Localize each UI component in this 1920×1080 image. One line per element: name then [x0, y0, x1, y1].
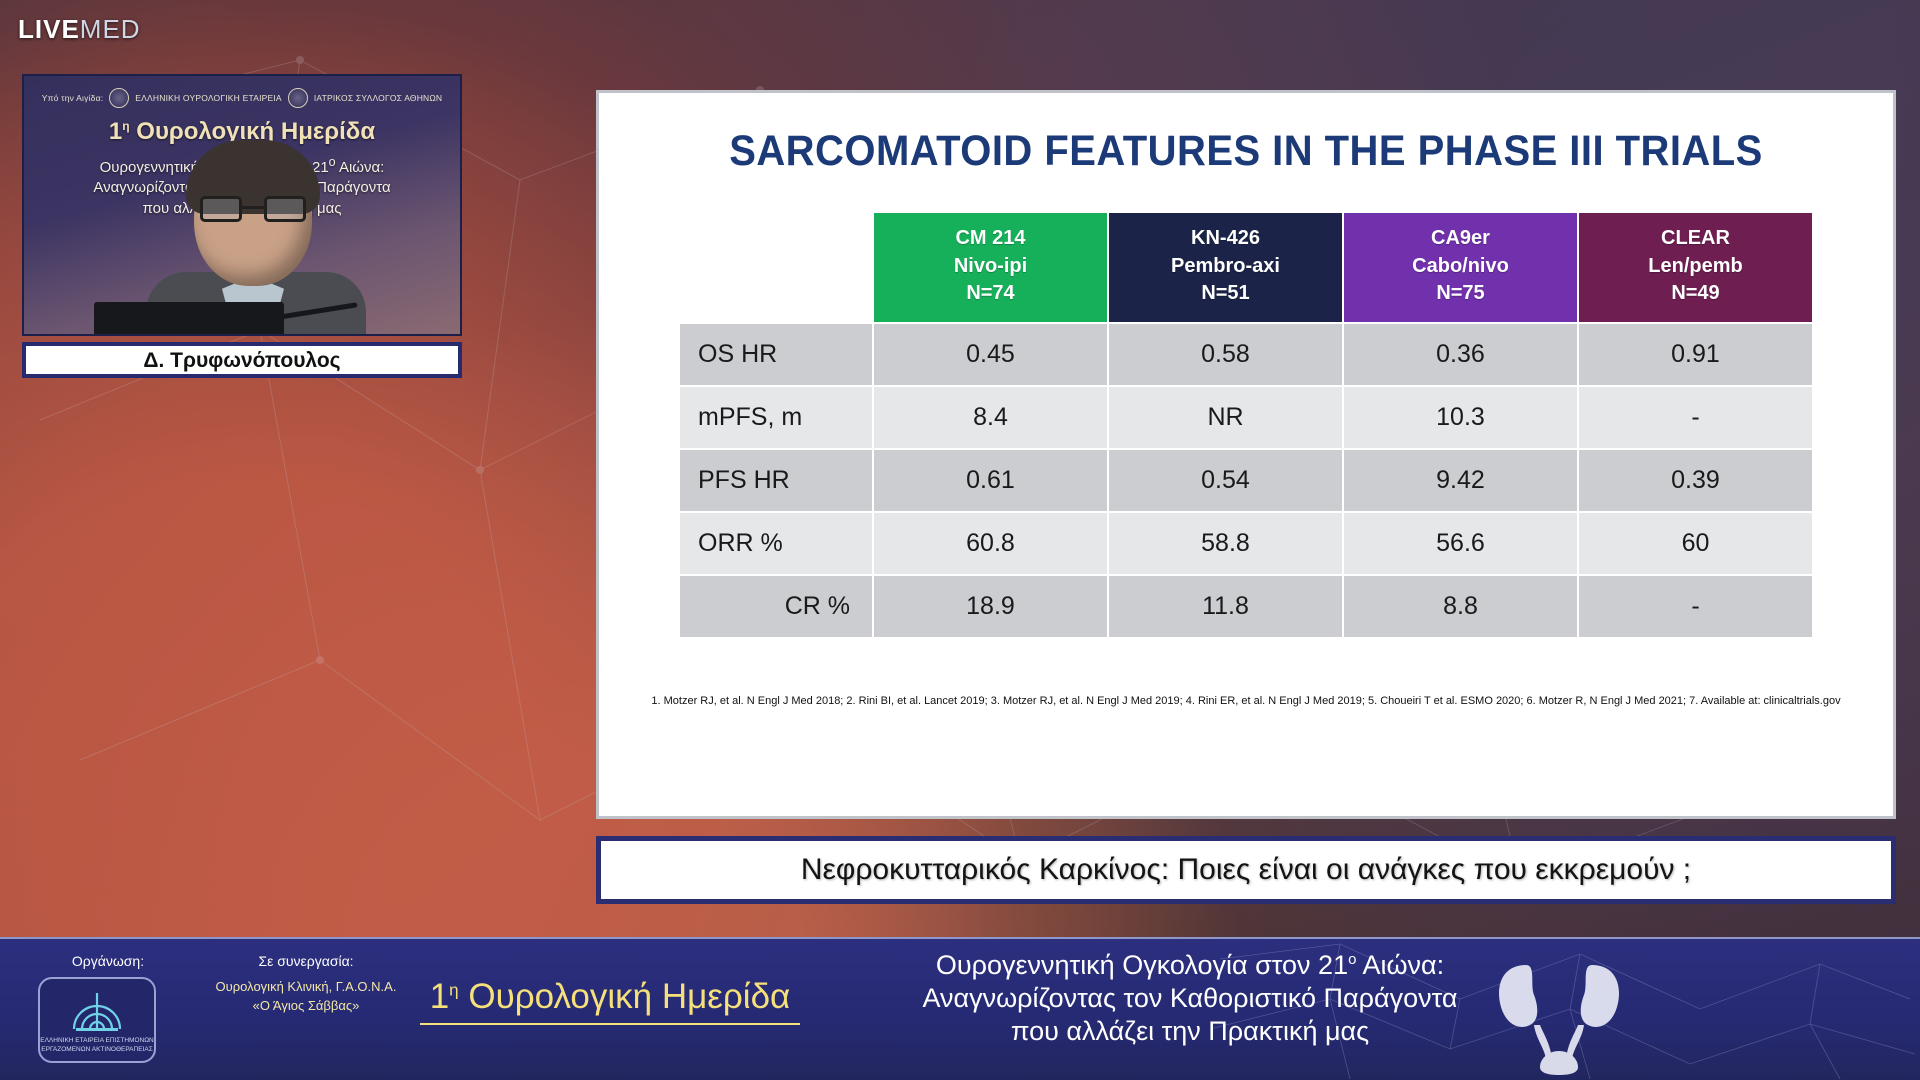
radiotherapy-arcs-icon — [66, 989, 128, 1031]
banner-organizer-block: Οργάνωση: ΕΛΛΗΝΙΚΗ ΕΤΑΙΡΕΙΑ ΕΠΙΣΤΗΜΟΝΩΝ … — [38, 953, 178, 1063]
banner-event-number-sup: η — [449, 980, 458, 999]
column-header-ca9er: CA9er Cabo/nivo N=75 — [1343, 212, 1578, 323]
society-seal-icon — [109, 88, 129, 108]
cell-cr-kn426: 11.8 — [1108, 575, 1343, 638]
thumbnail-aegis-row: Υπό την Αιγίδα: ΕΛΛΗΝΙΚΗ ΟΥΡΟΛΟΓΙΚΗ ΕΤΑΙ… — [24, 84, 460, 108]
cell-os-hr-kn426: 0.58 — [1108, 323, 1343, 386]
header-trial-name: KN-426 — [1113, 225, 1338, 253]
header-regimen: Cabo/nivo — [1348, 253, 1573, 281]
banner-main-line1-end: Αιώνα: — [1356, 950, 1444, 980]
cell-os-hr-cm214: 0.45 — [873, 323, 1108, 386]
table-corner-cell — [679, 212, 873, 323]
organizer-caption: Οργάνωση: — [38, 953, 178, 969]
thumbnail-event-number-sup: η — [122, 119, 129, 133]
cell-orr-cm214: 60.8 — [873, 512, 1108, 575]
row-label-mpfs: mPFS, m — [679, 386, 873, 449]
aegis-label: Υπό την Αιγίδα: — [42, 93, 104, 103]
banner-main-line1: Ουρογεννητική Ογκολογία στον 21ο Αιώνα: — [810, 949, 1570, 982]
cell-os-hr-ca9er: 0.36 — [1343, 323, 1578, 386]
society-right-label: ΙΑΤΡΙΚΟΣ ΣΥΛΛΟΓΟΣ ΑΘΗΝΩΝ — [314, 93, 442, 103]
table-row: OS HR 0.45 0.58 0.36 0.91 — [679, 323, 1813, 386]
table-header-row: CM 214 Nivo-ipi N=74 KN-426 Pembro-axi N… — [679, 212, 1813, 323]
cell-pfs-hr-ca9er: 9.42 — [1343, 449, 1578, 512]
header-n: N=51 — [1113, 280, 1338, 308]
cell-mpfs-ca9er: 10.3 — [1343, 386, 1578, 449]
column-header-kn426: KN-426 Pembro-axi N=51 — [1108, 212, 1343, 323]
cell-cr-cm214: 18.9 — [873, 575, 1108, 638]
header-trial-name: CLEAR — [1583, 225, 1808, 253]
cell-os-hr-clear: 0.91 — [1578, 323, 1813, 386]
table-row: CR % 18.9 11.8 8.8 - — [679, 575, 1813, 638]
header-n: N=74 — [878, 280, 1103, 308]
speaker-glasses — [200, 196, 306, 222]
speaker-name-label: Δ. Τρυφωνόπουλος — [22, 342, 462, 378]
table-row: mPFS, m 8.4 NR 10.3 - — [679, 386, 1813, 449]
header-trial-name: CA9er — [1348, 225, 1573, 253]
banner-main-title-block: Ουρογεννητική Ογκολογία στον 21ο Αιώνα: … — [810, 949, 1570, 1049]
banner-event-title-block: 1η Ουρολογική Ημερίδα — [420, 977, 800, 1025]
banner-event-number: 1 — [430, 977, 449, 1016]
session-title-bar: Νεφροκυτταρικός Καρκίνος: Ποιες είναι οι… — [596, 836, 1896, 904]
cooperation-line1: Ουρολογική Κλινική, Γ.Α.Ο.Ν.Α. — [196, 979, 416, 994]
session-title-text: Νεφροκυτταρικός Καρκίνος: Ποιες είναι οι… — [801, 853, 1691, 887]
header-regimen: Len/pemb — [1583, 253, 1808, 281]
row-label-pfs-hr: PFS HR — [679, 449, 873, 512]
slide-references-footnote: 1. Motzer RJ, et al. N Engl J Med 2018; … — [599, 693, 1893, 710]
slide-title: SARCOMATOID FEATURES IN THE PHASE III TR… — [644, 127, 1847, 176]
banner-cooperation-block: Σε συνεργασία: Ουρολογική Κλινική, Γ.Α.Ο… — [196, 953, 416, 1013]
cell-orr-ca9er: 56.6 — [1343, 512, 1578, 575]
cell-mpfs-clear: - — [1578, 386, 1813, 449]
cell-pfs-hr-cm214: 0.61 — [873, 449, 1108, 512]
presentation-slide: SARCOMATOID FEATURES IN THE PHASE III TR… — [596, 90, 1896, 819]
table-row: ORR % 60.8 58.8 56.6 60 — [679, 512, 1813, 575]
speaker-video-feed[interactable]: Υπό την Αιγίδα: ΕΛΛΗΝΙΚΗ ΟΥΡΟΛΟΓΙΚΗ ΕΤΑΙ… — [22, 74, 462, 336]
banner-main-line3: που αλλάζει την Πρακτική μας — [810, 1015, 1570, 1048]
row-label-cr: CR % — [679, 575, 873, 638]
organizer-logo: ΕΛΛΗΝΙΚΗ ΕΤΑΙΡΕΙΑ ΕΠΙΣΤΗΜΟΝΩΝ ΕΡΓΑΖΟΜΕΝΩ… — [38, 977, 156, 1063]
banner-main-line2: Αναγνωρίζοντας τον Καθοριστικό Παράγοντα — [810, 982, 1570, 1015]
livemed-logo: LIVEMED — [18, 14, 141, 45]
header-n: N=75 — [1348, 280, 1573, 308]
banner-title-underline — [420, 1023, 800, 1025]
cell-mpfs-kn426: NR — [1108, 386, 1343, 449]
logo-live-text: LIVE — [18, 14, 80, 44]
organizer-logo-text: ΕΛΛΗΝΙΚΗ ΕΤΑΙΡΕΙΑ ΕΠΙΣΤΗΜΟΝΩΝ ΕΡΓΑΖΟΜΕΝΩ… — [40, 1037, 154, 1055]
cooperation-line2: «Ο Άγιος Σάββας» — [196, 998, 416, 1013]
event-sponsor-banner: Οργάνωση: ΕΛΛΗΝΙΚΗ ΕΤΑΙΡΕΙΑ ΕΠΙΣΤΗΜΟΝΩΝ … — [0, 937, 1920, 1080]
cell-orr-clear: 60 — [1578, 512, 1813, 575]
header-regimen: Pembro-axi — [1113, 253, 1338, 281]
cooperation-caption: Σε συνεργασία: — [196, 953, 416, 969]
banner-main-line1-text: Ουρογεννητική Ογκολογία στον 21 — [936, 950, 1348, 980]
logo-med-text: MED — [80, 14, 141, 44]
table-row: PFS HR 0.61 0.54 9.42 0.39 — [679, 449, 1813, 512]
society-seal-icon-2 — [288, 88, 308, 108]
cell-pfs-hr-kn426: 0.54 — [1108, 449, 1343, 512]
header-trial-name: CM 214 — [878, 225, 1103, 253]
sarcomatoid-trials-table: CM 214 Nivo-ipi N=74 KN-426 Pembro-axi N… — [679, 212, 1813, 638]
kidney-anatomy-icon — [1474, 947, 1644, 1075]
banner-event-name: Ουρολογική Ημερίδα — [468, 977, 790, 1016]
speaker-video-card[interactable]: Υπό την Αιγίδα: ΕΛΛΗΝΙΚΗ ΟΥΡΟΛΟΓΙΚΗ ΕΤΑΙ… — [22, 74, 462, 378]
cell-mpfs-cm214: 8.4 — [873, 386, 1108, 449]
row-label-os-hr: OS HR — [679, 323, 873, 386]
row-label-orr: ORR % — [679, 512, 873, 575]
header-n: N=49 — [1583, 280, 1808, 308]
column-header-cm214: CM 214 Nivo-ipi N=74 — [873, 212, 1108, 323]
column-header-clear: CLEAR Len/pemb N=49 — [1578, 212, 1813, 323]
cell-cr-clear: - — [1578, 575, 1813, 638]
banner-event-title: 1η Ουρολογική Ημερίδα — [420, 977, 800, 1017]
society-left-label: ΕΛΛΗΝΙΚΗ ΟΥΡΟΛΟΓΙΚΗ ΕΤΑΙΡΕΙΑ — [135, 93, 282, 103]
laptop-icon — [94, 302, 284, 336]
cell-orr-kn426: 58.8 — [1108, 512, 1343, 575]
thumbnail-event-number: 1 — [109, 118, 122, 145]
cell-cr-ca9er: 8.8 — [1343, 575, 1578, 638]
header-regimen: Nivo-ipi — [878, 253, 1103, 281]
cell-pfs-hr-clear: 0.39 — [1578, 449, 1813, 512]
